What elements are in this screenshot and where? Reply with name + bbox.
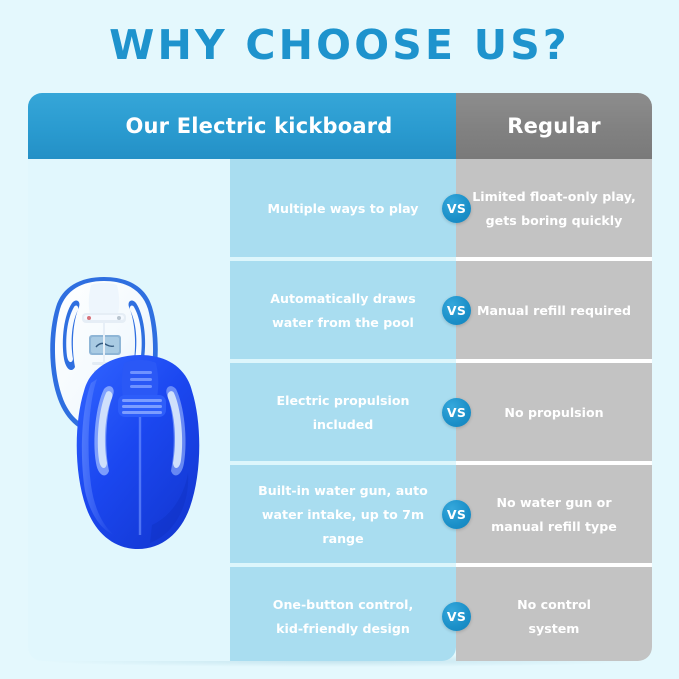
cell-line: Manual refill required [477,299,631,323]
cell-ours: Built-in water gun, auto water intake, u… [230,465,456,565]
comparison-rows: Multiple ways to play VS Limited float-o… [28,159,652,661]
cell-regular: No propulsion [456,363,652,463]
cell-line: Limited float-only play, [472,185,635,209]
table-row: Automatically draws water from the pool … [28,261,652,361]
vs-badge: VS [442,602,471,631]
cell-line: One-button control, [273,593,414,617]
cell-line: manual refill type [491,515,617,539]
cell-ours: One-button control, kid-friendly design [230,567,456,667]
cell-regular: No water gun or manual refill type [456,465,652,565]
cell-line: gets boring quickly [486,209,623,233]
vs-badge: VS [442,500,471,529]
vs-badge: VS [442,398,471,427]
cell-line: No water gun or [496,491,611,515]
table-row: Built-in water gun, auto water intake, u… [28,465,652,565]
cell-line: Electric propulsion [277,389,410,413]
table-row: One-button control, kid-friendly design … [28,567,652,667]
table-row: Multiple ways to play VS Limited float-o… [28,159,652,259]
table-row: Electric propulsion included VS No propu… [28,363,652,463]
cell-ours: Multiple ways to play [230,159,456,259]
cell-line: Multiple ways to play [268,197,419,221]
header-regular: Regular [456,93,652,159]
cell-line: water from the pool [272,311,414,335]
comparison-table: Our Electric kickboard Regular [28,93,652,661]
cell-line: system [529,617,580,641]
page-title: WHY CHOOSE US? [0,22,679,68]
vs-badge: VS [442,194,471,223]
cell-line: range [322,527,363,551]
cell-ours: Automatically draws water from the pool [230,261,456,361]
cell-line: Automatically draws [270,287,415,311]
cell-ours: Electric propulsion included [230,363,456,463]
cell-regular: Manual refill required [456,261,652,361]
cell-line: included [313,413,374,437]
cell-regular: No control system [456,567,652,667]
cell-line: No propulsion [504,401,603,425]
cell-line: water intake, up to 7m [262,503,424,527]
cell-line: No control [517,593,591,617]
cell-line: kid-friendly design [276,617,410,641]
cell-line: Built-in water gun, auto [258,479,428,503]
table-body: Multiple ways to play VS Limited float-o… [28,159,652,661]
vs-badge: VS [442,296,471,325]
table-header-row: Our Electric kickboard Regular [28,93,652,159]
cell-regular: Limited float-only play, gets boring qui… [456,159,652,259]
header-ours: Our Electric kickboard [28,93,456,159]
